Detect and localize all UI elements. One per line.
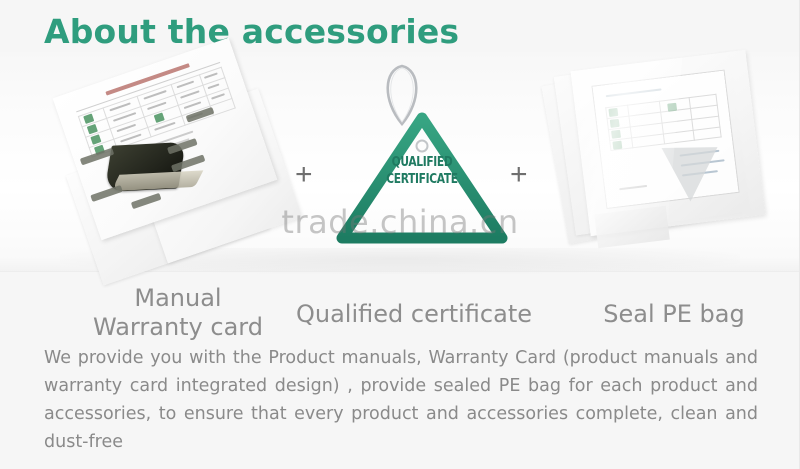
certificate-tag-line-1: QUALIFIED	[350, 154, 494, 171]
caption-manual-warranty-card: Manual Warranty card	[58, 284, 298, 342]
description-paragraph: We provide you with the Product manuals,…	[44, 344, 758, 456]
watermark: trade.china.cn	[0, 203, 800, 241]
plus-separator-icon-2: +	[510, 160, 528, 190]
page-title: About the accessories	[44, 12, 459, 51]
caption-manual-line-1: Manual	[58, 284, 298, 313]
accessories-banner: About the accessories	[0, 0, 800, 469]
plus-separator-icon-1: +	[295, 160, 313, 190]
caption-qualified-certificate: Qualified certificate	[280, 300, 548, 329]
caption-seal-pe-bag: Seal PE bag	[558, 300, 790, 329]
captions-row: Manual Warranty card Qualified certifica…	[0, 280, 800, 340]
certificate-tag-text: QUALIFIED CERTIFICATE	[350, 154, 494, 188]
iron-soleplate	[111, 170, 203, 191]
certificate-tag-line-2: CERTIFICATE	[350, 171, 494, 188]
caption-manual-line-2: Warranty card	[58, 313, 298, 342]
